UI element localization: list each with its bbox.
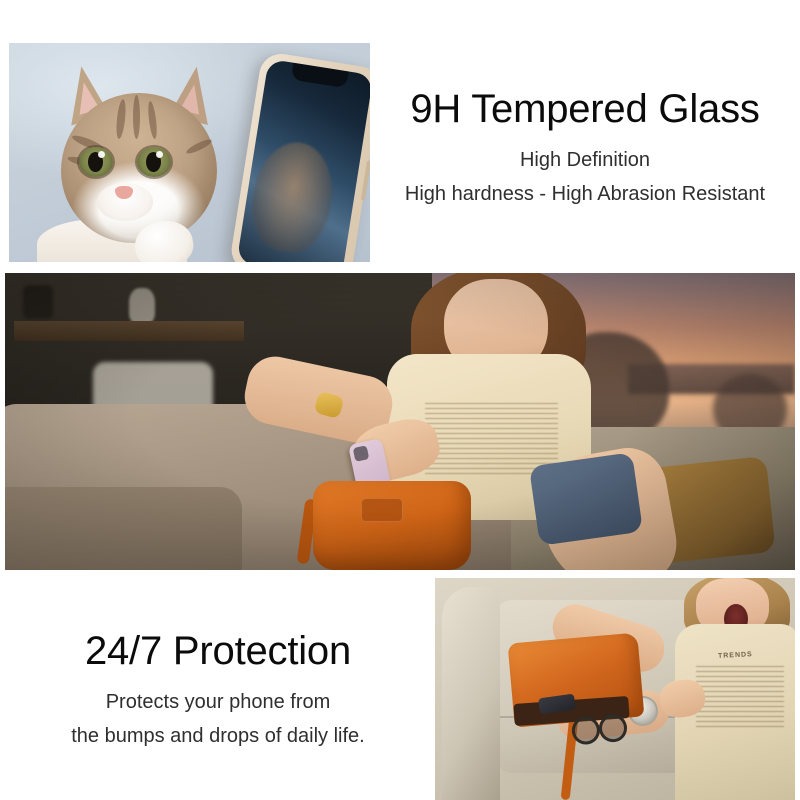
tank-top-print: [696, 666, 784, 731]
bag-spill-photo: TRENDS: [435, 578, 795, 800]
tempered-glass-text-block: 9H Tempered Glass High Definition High h…: [378, 88, 792, 209]
orange-handbag: [313, 481, 471, 570]
protection-subtitle-1: Protects your phone from: [18, 687, 418, 717]
protection-text-block: 24/7 Protection Protects your phone from…: [18, 630, 418, 751]
cat-eye-left: [79, 147, 113, 177]
shocked-woman-figure: TRENDS: [651, 578, 795, 800]
handbag-label-tab: [361, 498, 403, 522]
sofa-armrest: [5, 487, 242, 570]
decor-jar: [23, 285, 53, 319]
cat-eye-right: [137, 147, 171, 177]
tempered-glass-headline: 9H Tempered Glass: [378, 88, 792, 131]
sideboard: [14, 321, 244, 342]
decor-vase: [129, 288, 155, 324]
protection-subtitle-2: the bumps and drops of daily life.: [18, 721, 418, 751]
tempered-glass-subtitle-1: High Definition: [378, 145, 792, 175]
sofa-armrest: [442, 587, 500, 800]
cat-stripe: [133, 95, 140, 139]
denim-shorts: [529, 452, 643, 546]
phone-screen: [237, 59, 370, 262]
phone-notch: [291, 63, 349, 89]
tempered-glass-subtitle-2: High hardness - High Abrasion Resistant: [378, 179, 792, 209]
kitten-phone-photo: [9, 43, 370, 262]
screen-reflection: [245, 137, 339, 258]
woman-bag-sunset-photo: [5, 273, 795, 570]
protection-headline: 24/7 Protection: [18, 630, 418, 673]
